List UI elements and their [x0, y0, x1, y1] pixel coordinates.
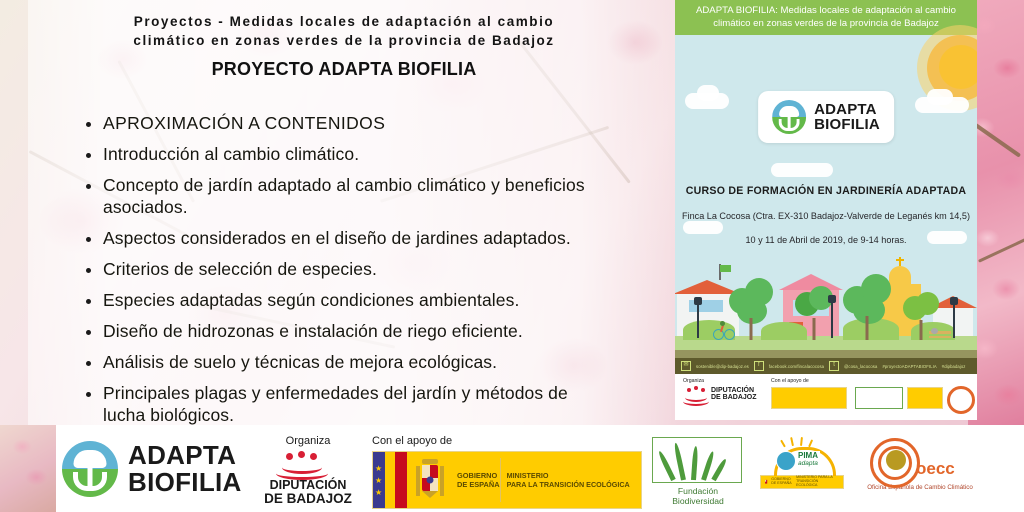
spain-flag-icon: ★ ★ ★: [373, 452, 407, 508]
list-item-label: Concepto de jardín adaptado al cambio cl…: [103, 174, 666, 218]
tree-canopy: [916, 292, 939, 315]
bullet-dot-icon: [86, 361, 91, 366]
fundacion-logo-small: [855, 387, 903, 409]
bullet-dot-icon: [86, 330, 91, 335]
social-hashtag-project: #proyectoADAPTABIOFILIA: [882, 364, 936, 369]
list-item: Criterios de selección de especies.: [86, 258, 666, 280]
footer-diputacion-line-2: DE BADAJOZ: [252, 492, 364, 506]
adapta-tree-mark-icon: [62, 441, 118, 497]
bullet-dot-icon: [86, 184, 91, 189]
grass-blade: [691, 446, 698, 480]
tree-trunk: [920, 320, 923, 340]
poster-banner: ADAPTA BIOFILIA: Medidas locales de adap…: [675, 0, 977, 35]
street-lamp: [831, 302, 833, 338]
facebook-icon[interactable]: f: [754, 361, 764, 371]
diputacion-dots: [252, 451, 364, 457]
cloud-icon: [697, 85, 719, 101]
list-item-label: Especies adaptadas según condiciones amb…: [103, 289, 519, 311]
social-bar: ✉ sostenible@dip-badajoz.es f facebook.c…: [675, 358, 977, 374]
mail-icon[interactable]: ✉: [681, 361, 691, 371]
globe-icon: [776, 451, 796, 471]
social-facebook: facebook.com/fincalacocosa: [769, 364, 824, 369]
spain-coat-of-arms-icon: [407, 452, 453, 508]
logo-line-1: ADAPTA: [814, 102, 880, 117]
tree-canopy: [853, 296, 885, 324]
gobierno-text: GOBIERNO DE ESPAÑA: [453, 452, 500, 508]
branch-stroke: [978, 237, 1024, 263]
oecc-mark-icon: oecc: [860, 437, 980, 483]
footer-diputacion-logo: DIPUTACIÓN DE BADAJOZ: [252, 451, 364, 495]
park-bench-icon: [929, 328, 951, 340]
diputacion-line-1: DIPUTACIÓN: [711, 387, 763, 394]
pima-sub: adapta: [798, 460, 818, 467]
street-lamp: [953, 304, 955, 338]
footer-adapta-logo: ADAPTA BIOFILIA: [62, 441, 242, 497]
footer-apoyo-label: Con el apoyo de: [372, 435, 642, 447]
list-item: Diseño de hidrozonas e instalación de ri…: [86, 320, 666, 342]
poster-panel: ADAPTA BIOFILIA: Medidas locales de adap…: [675, 0, 977, 420]
cloud-icon: [771, 163, 833, 177]
tree-trunk: [750, 318, 753, 340]
branch-stroke: [970, 120, 1021, 158]
diputacion-wordmark: DIPUTACIÓN DE BADAJOZ: [711, 387, 763, 401]
footer-organiza-label: Organiza: [252, 435, 364, 447]
course-venue: Finca La Cocosa (Ctra. EX-310 Badajoz-Va…: [681, 211, 971, 221]
bullet-dot-icon: [86, 299, 91, 304]
pima-logo-small: [907, 387, 943, 409]
oecc-logo: oecc Oficina Española de Cambio Climátic…: [860, 437, 980, 491]
footer-logo-line-1: ADAPTA: [128, 442, 242, 469]
eu-star-icon: ★: [375, 477, 382, 484]
project-title: PROYECTO ADAPTA BIOFILIA: [30, 59, 658, 80]
diputacion-logo: DIPUTACIÓN DE BADAJOZ: [683, 387, 763, 401]
logo-wordmark: ADAPTA BIOFILIA: [814, 102, 880, 132]
cyclist-icon: [713, 320, 735, 340]
page-title: Proyectos - Medidas locales de adaptació…: [30, 12, 658, 80]
footer-logo-line-2: BIOFILIA: [128, 469, 242, 496]
gobierno-line-1: GOBIERNO: [457, 471, 500, 480]
content-bullet-list: APROXIMACIÓN A CONTENIDOS Introducción a…: [86, 112, 666, 435]
flag-yellow-band: [385, 452, 395, 508]
diputacion-arc: [683, 397, 709, 406]
footer-logo-wordmark: ADAPTA BIOFILIA: [128, 442, 242, 495]
footer-apoyo-block: Con el apoyo de ★ ★ ★: [372, 435, 642, 509]
footer-diputacion-line-1: DIPUTACIÓN: [252, 479, 364, 492]
oecc-subtitle: Oficina Española de Cambio Climático: [860, 484, 980, 491]
gobierno-espana-logo: ★ ★ ★: [372, 451, 642, 509]
lamp-head: [828, 295, 836, 303]
church-tower: [889, 266, 911, 284]
oecc-ball: [886, 450, 906, 470]
street-lamp: [697, 304, 699, 338]
eu-star-icon: ★: [375, 465, 382, 472]
header-line-1: Proyectos - Medidas locales de adaptació…: [30, 12, 658, 31]
gobierno-logo-small: [771, 387, 847, 409]
bullet-dot-icon: [86, 153, 91, 158]
adapta-tree-mark-icon: [772, 100, 806, 134]
lamp-head: [950, 297, 958, 305]
tree: [795, 286, 833, 340]
diputacion-wordmark: DIPUTACIÓN DE BADAJOZ: [252, 479, 364, 506]
bullet-dot-icon: [86, 237, 91, 242]
list-item-label: Criterios de selección de especies.: [103, 258, 377, 280]
pima-name: PIMA: [798, 452, 818, 460]
list-item-label: Introducción al cambio climático.: [103, 143, 359, 165]
pima-bar-line-2: MINISTERIO PARA LA TRANSICIÓN ECOLÓGICA: [796, 476, 840, 488]
footer-photo-edge: [0, 425, 56, 512]
social-hashtag-dip: #dipbadajoz: [942, 364, 966, 369]
social-twitter: @cosa_lacocosa: [844, 364, 877, 369]
sun-ray: [790, 437, 794, 446]
adapta-biofilia-logo: ADAPTA BIOFILIA: [758, 91, 894, 143]
list-item: Principales plagas y enfermedades del ja…: [86, 382, 666, 426]
sun-ray: [800, 437, 803, 446]
ministerio-line-1: MINISTERIO: [507, 471, 630, 480]
oecc-logo-small: [947, 386, 975, 414]
list-item: Aspectos considerados en el diseño de ja…: [86, 227, 666, 249]
grass-blade: [673, 442, 686, 480]
list-item: APROXIMACIÓN A CONTENIDOS: [86, 112, 666, 134]
tree-trunk: [813, 318, 816, 340]
list-item-label: Análisis de suelo y técnicas de mejora e…: [103, 351, 497, 373]
bullet-dot-icon: [86, 392, 91, 397]
list-item-label: Diseño de hidrozonas e instalación de ri…: [103, 320, 523, 342]
grass-blade: [657, 450, 676, 481]
diputacion-line-2: DE BADAJOZ: [711, 394, 763, 401]
tree: [843, 274, 891, 340]
flag-red-band: [395, 452, 407, 508]
list-item-label: APROXIMACIÓN A CONTENIDOS: [103, 112, 385, 134]
ministerio-text: MINISTERIO PARA LA TRANSICIÓN ECOLÓGICA: [501, 452, 630, 508]
twitter-icon[interactable]: t: [829, 361, 839, 371]
cloud-icon: [683, 221, 723, 234]
header-line-2: climático en zonas verdes de la provinci…: [30, 31, 658, 50]
poster-sponsors: Organiza Con el apoyo de DIPUTACIÓN DE B…: [675, 374, 977, 420]
village-illustration: [675, 253, 977, 358]
flag-icon: [720, 265, 731, 272]
pima-ministry-bar: GOBIERNO DE ESPAÑA MINISTERIO PARA LA TR…: [760, 475, 844, 489]
pima-mark-icon: PIMA adapta: [760, 439, 844, 475]
oecc-wordmark: oecc: [916, 459, 955, 479]
fundacion-label: Fundación Biodiversidad: [652, 486, 744, 506]
diputacion-arc: [276, 467, 328, 480]
sun-icon: [939, 45, 977, 89]
soil-strip: [675, 350, 977, 358]
list-item: Concepto de jardín adaptado al cambio cl…: [86, 174, 666, 218]
social-email: sostenible@dip-badajoz.es: [696, 364, 749, 369]
poster-banner-text: ADAPTA BIOFILIA: Medidas locales de adap…: [683, 5, 969, 30]
eu-star-icon: ★: [375, 489, 382, 496]
tree-trunk: [866, 316, 869, 340]
course-date: 10 y 11 de Abril de 2019, de 9-14 horas.: [681, 235, 971, 245]
cloud-icon: [927, 89, 953, 105]
spain-coat-of-arms-icon: [764, 477, 768, 487]
fundacion-biodiversidad-logo: Fundación Biodiversidad: [652, 437, 744, 506]
list-item-label: Principales plagas y enfermedades del ja…: [103, 382, 603, 426]
cross-icon: [896, 259, 904, 261]
pima-bar-line-1: GOBIERNO DE ESPAÑA: [771, 478, 793, 486]
apoyo-label: Con el apoyo de: [771, 378, 809, 384]
course-title: CURSO DE FORMACIÓN EN JARDINERÍA ADAPTAD…: [675, 185, 977, 197]
grass-blade: [711, 458, 727, 481]
list-item: Análisis de suelo y técnicas de mejora e…: [86, 351, 666, 373]
lamp-head: [694, 297, 702, 305]
list-item: Introducción al cambio climático.: [86, 143, 666, 165]
sun-ray: [780, 440, 786, 448]
organiza-label: Organiza: [683, 378, 704, 384]
poster-sky: ADAPTA BIOFILIA CURSO DE FORMACIÓN EN JA…: [675, 35, 977, 253]
gobierno-line-2: DE ESPAÑA: [457, 480, 500, 489]
footer-organiza-block: Organiza DIPUTACIÓN DE BADAJOZ: [252, 435, 364, 495]
bullet-dot-icon: [86, 122, 91, 127]
slide-root: Proyectos - Medidas locales de adaptació…: [0, 0, 1024, 512]
logo-line-2: BIOFILIA: [814, 117, 880, 132]
bullet-dot-icon: [86, 268, 91, 273]
fundacion-mark-icon: [652, 437, 742, 483]
list-item: Especies adaptadas según condiciones amb…: [86, 289, 666, 311]
pima-adapta-logo: PIMA adapta GOBIERNO DE ESPAÑA MINISTERI…: [760, 439, 844, 489]
footer-bar: ADAPTA BIOFILIA Organiza DIPUTACIÓN: [0, 425, 1024, 512]
list-item-label: Aspectos considerados en el diseño de ja…: [103, 227, 571, 249]
tree: [729, 278, 773, 340]
ministerio-line-2: PARA LA TRANSICIÓN ECOLÓGICA: [507, 480, 630, 489]
pima-wordmark: PIMA adapta: [796, 451, 820, 468]
